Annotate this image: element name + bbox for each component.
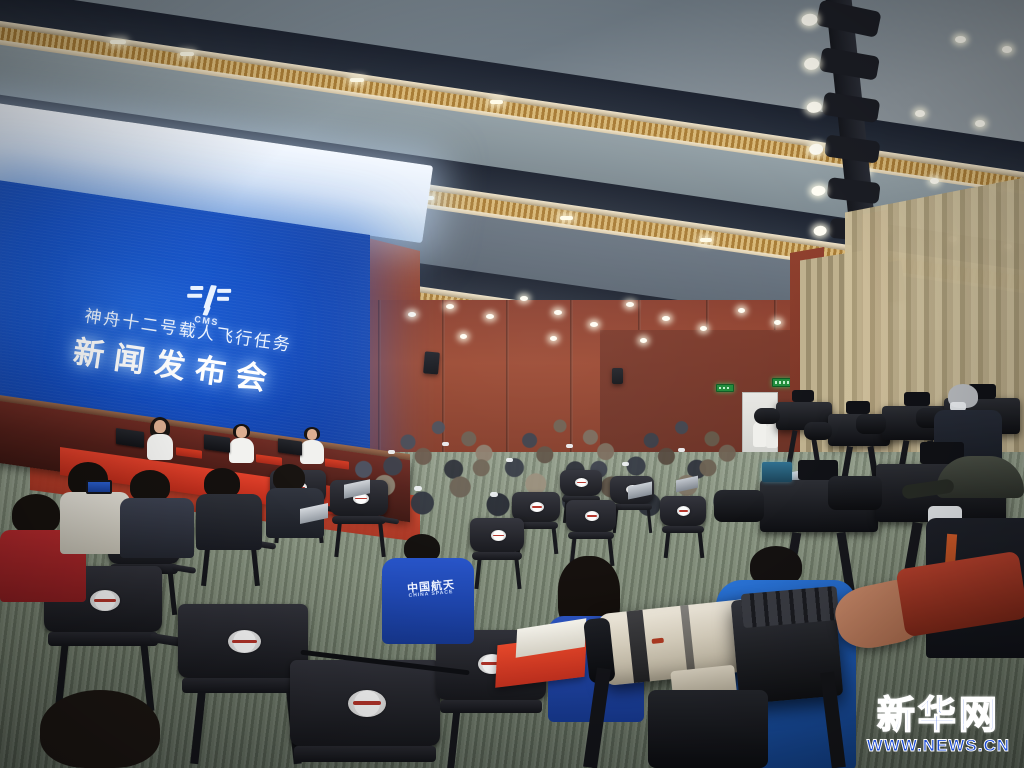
stage-spotlight — [809, 143, 824, 155]
screen-subtitle: 神舟十二号载人飞行任务 — [48, 296, 329, 361]
stage-spotlight — [813, 225, 827, 236]
watermark-url: WWW.NEWS.CN — [867, 737, 1010, 754]
wall-speaker — [612, 368, 623, 384]
cms-logo: CMS — [174, 281, 243, 331]
exit-sign — [716, 384, 734, 392]
cms-logo-text: CMS — [174, 311, 239, 330]
stage-spotlight — [804, 57, 820, 71]
smartphone — [86, 480, 112, 494]
stage-spotlight — [811, 185, 826, 196]
stage-spotlight — [801, 13, 818, 27]
tripod-head — [648, 690, 768, 768]
screen-main-title: 新闻发布会 — [24, 320, 327, 407]
staff-polo-shirt — [382, 558, 474, 644]
wall-speaker — [423, 351, 440, 374]
watermark: 新华网 WWW.NEWS.CN — [867, 696, 1010, 754]
stage-spotlight — [806, 101, 822, 114]
press-conference-photo: CMS 神舟十二号载人飞行任务 新闻发布会 — [0, 0, 1024, 768]
exit-sign — [772, 378, 792, 387]
watermark-name: 新华网 — [867, 696, 1010, 734]
cms-logo-mark — [185, 282, 235, 318]
